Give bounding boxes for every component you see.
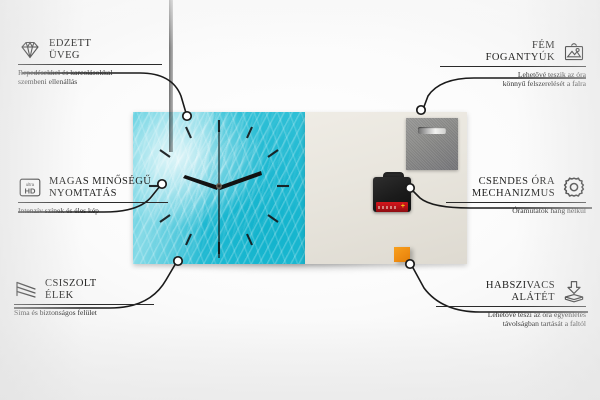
callout-high-quality-print[interactable]: ultra HD MAGAS MINŐSÉGŰ NYOMTATÁS Intenz… bbox=[18, 176, 168, 215]
hanger-slot bbox=[418, 127, 446, 134]
callout-tempered-glass[interactable]: EDZETT ÜVEG Repedésekkel és karcolásokka… bbox=[18, 38, 162, 87]
callout-header: HABSZIVACS ALÁTÉT bbox=[436, 280, 586, 303]
diamond-icon bbox=[18, 40, 42, 60]
panel-seam bbox=[169, 0, 173, 152]
callout-header: EDZETT ÜVEG bbox=[18, 38, 162, 61]
battery: + bbox=[376, 202, 408, 212]
callout-silent-movement[interactable]: CSENDES ÓRA MECHANIZMUS Óramutatók hang … bbox=[446, 176, 586, 215]
callout-foam-spacer[interactable]: HABSZIVACS ALÁTÉT Lehetővé teszi az óra … bbox=[436, 280, 586, 329]
battery-bands bbox=[378, 206, 398, 209]
foam-spacer-pad bbox=[394, 247, 410, 262]
svg-text:HD: HD bbox=[25, 186, 36, 195]
callout-title: CSISZOLT ÉLEK bbox=[45, 278, 97, 301]
callout-title: FÉM FOGANTYÚK bbox=[486, 40, 555, 63]
callout-divider bbox=[440, 66, 586, 67]
callout-description: Lehetővé teszik az óra könnyű felszerelé… bbox=[440, 70, 586, 89]
callout-metal-hangers[interactable]: FÉM FOGANTYÚK Lehetővé teszik az óra kön… bbox=[440, 40, 586, 89]
callout-divider bbox=[446, 202, 586, 203]
callout-header: FÉM FOGANTYÚK bbox=[440, 40, 586, 63]
callout-title: MAGAS MINŐSÉGŰ NYOMTATÁS bbox=[49, 176, 151, 199]
ultra-hd-icon: ultra HD bbox=[18, 177, 42, 198]
battery-plus-marking: + bbox=[401, 203, 405, 211]
mechanism-body: + bbox=[373, 177, 411, 212]
callout-header: ultra HD MAGAS MINŐSÉGŰ NYOMTATÁS bbox=[18, 176, 168, 199]
callout-header: CSISZOLT ÉLEK bbox=[14, 278, 154, 301]
callout-description: Óramutatók hang nélkül bbox=[446, 206, 586, 215]
callout-header: CSENDES ÓRA MECHANIZMUS bbox=[446, 176, 586, 199]
gear-icon bbox=[562, 176, 586, 199]
callout-title: CSENDES ÓRA MECHANIZMUS bbox=[472, 176, 555, 199]
callout-polished-edges[interactable]: CSISZOLT ÉLEK Sima és biztonságos felüle… bbox=[14, 278, 154, 317]
callout-description: Sima és biztonságos felület bbox=[14, 308, 154, 317]
press-pad-icon bbox=[562, 280, 586, 303]
callout-divider bbox=[436, 306, 586, 307]
callout-divider bbox=[18, 202, 168, 203]
callout-description: Intenzív színek és éles kép bbox=[18, 206, 168, 215]
polished-edges-icon bbox=[14, 280, 38, 300]
infographic-canvas: + bbox=[0, 0, 600, 400]
metal-hanger-plate bbox=[406, 118, 458, 170]
clock-mechanism: + bbox=[373, 172, 411, 212]
picture-hanger-icon bbox=[562, 41, 586, 63]
callout-title: HABSZIVACS ALÁTÉT bbox=[486, 280, 555, 303]
callout-title: EDZETT ÜVEG bbox=[49, 38, 91, 61]
product-shadow bbox=[128, 262, 472, 288]
callout-description: Lehetővé teszi az óra egyenletes távolsá… bbox=[436, 310, 586, 329]
callout-divider bbox=[14, 304, 154, 305]
callout-description: Repedésekkel és karcolásokkal szembeni e… bbox=[18, 68, 162, 87]
callout-divider bbox=[18, 64, 162, 65]
